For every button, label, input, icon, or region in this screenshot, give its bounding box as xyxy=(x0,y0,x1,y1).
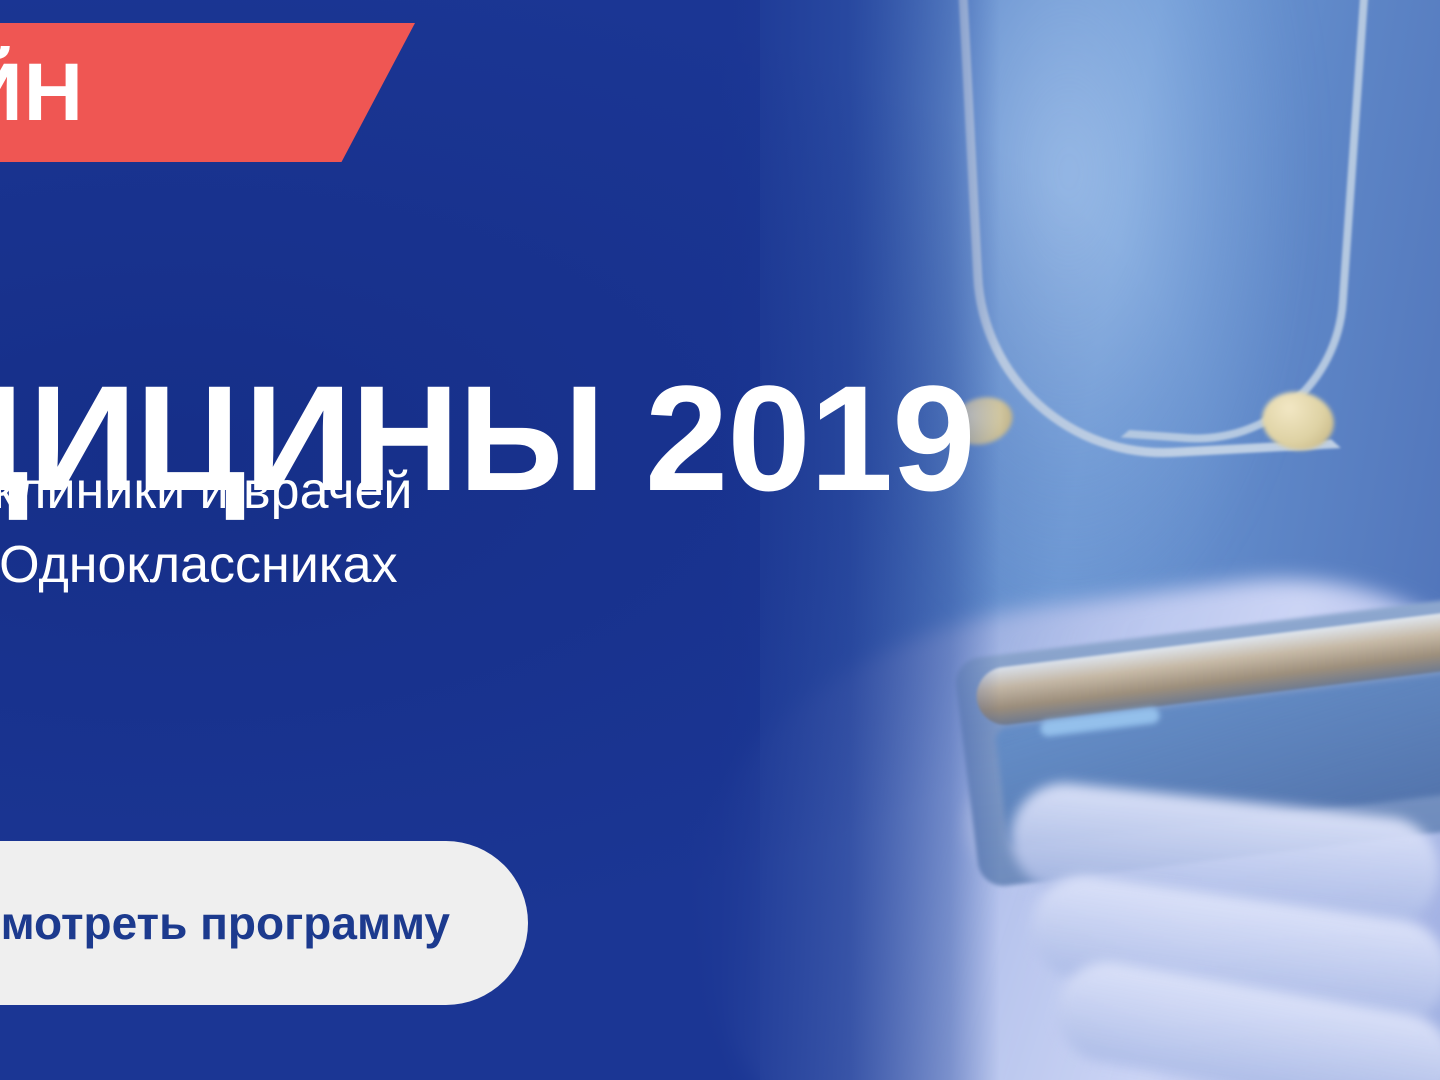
subtitle-line-1: продвигать клиники и врачей xyxy=(0,455,412,529)
promo-banner: ОНЛАЙН МЕДИЦИНЫ 2019 продвигать клиники … xyxy=(0,0,1440,1080)
subtitle-block: продвигать клиники и врачей Instagram и … xyxy=(0,455,412,603)
subtitle-line-2: Instagram и Одноклассниках xyxy=(0,529,412,603)
view-program-button[interactable]: Посмотреть программу xyxy=(0,841,528,1005)
ribbon-label: ОНЛАЙН xyxy=(0,52,84,134)
